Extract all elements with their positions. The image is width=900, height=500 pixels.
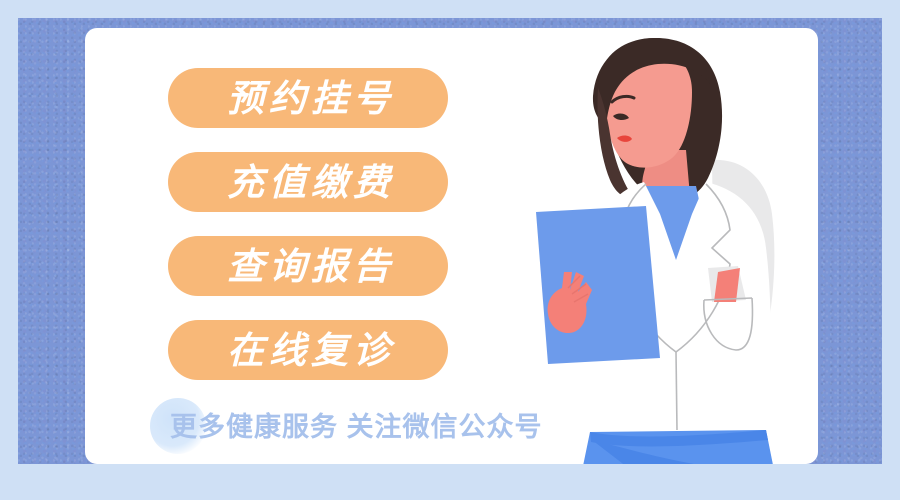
footer-text: 更多健康服务 关注微信公众号	[150, 405, 543, 444]
service-button-label: 预约挂号	[221, 80, 395, 117]
service-button-online-follow-up[interactable]: 在线复诊	[168, 320, 448, 380]
service-button-list: 预约挂号 充值缴费 查询报告 在线复诊	[168, 68, 448, 404]
service-button-label: 在线复诊	[221, 332, 395, 369]
footer-callout: 更多健康服务 关注微信公众号	[150, 398, 543, 450]
service-button-appointment-registration[interactable]: 预约挂号	[168, 68, 448, 128]
service-button-label: 查询报告	[221, 248, 395, 285]
service-button-recharge-payment[interactable]: 充值缴费	[168, 152, 448, 212]
banner-root: 预约挂号 充值缴费 查询报告 在线复诊 更多健康服务 关注微信公众号	[0, 0, 900, 500]
service-button-label: 充值缴费	[221, 164, 395, 201]
background-bottom-strip	[0, 464, 900, 500]
service-button-query-report[interactable]: 查询报告	[168, 236, 448, 296]
